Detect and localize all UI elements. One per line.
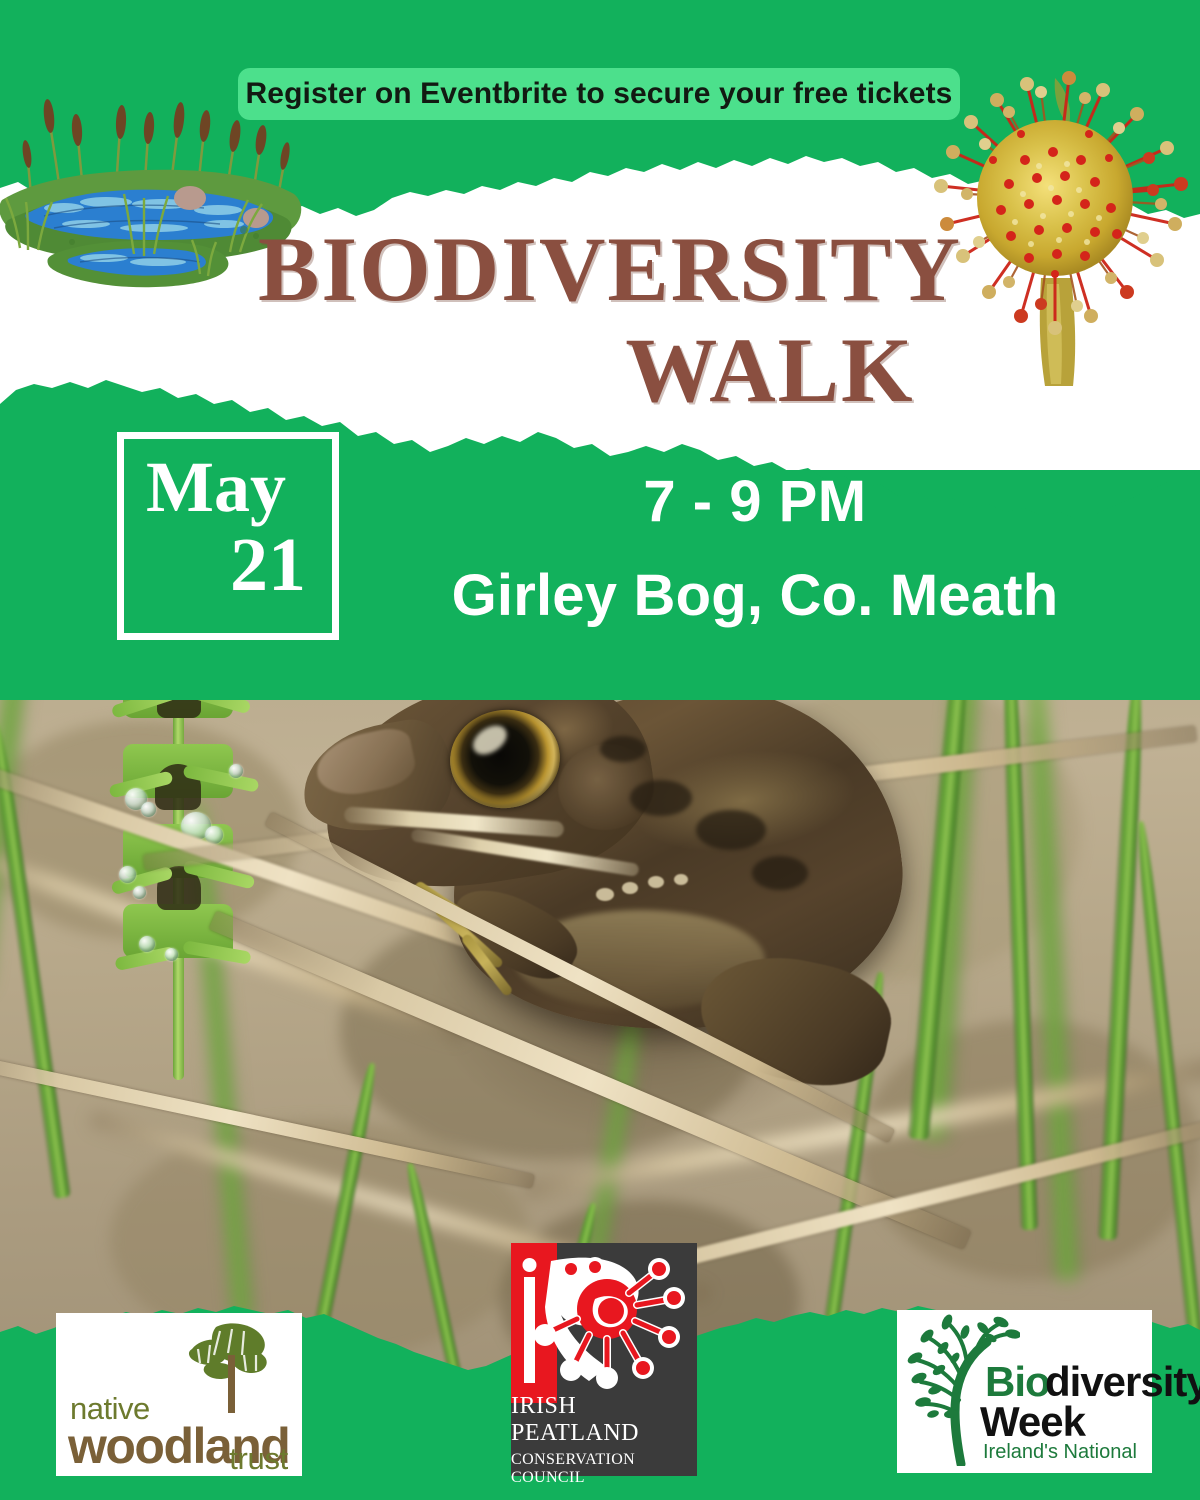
logo-bw-line2: Week xyxy=(980,1398,1085,1446)
logo-ipcc-line1: IRISH PEATLAND xyxy=(511,1393,697,1447)
title-line-2: WALK xyxy=(0,327,1200,414)
logo-biodiversity-week: Bio diversity Week Ireland's National xyxy=(897,1310,1152,1473)
event-location: Girley Bog, Co. Meath xyxy=(390,564,1120,628)
event-poster: Register on Eventbrite to secure your fr… xyxy=(0,0,1200,1500)
event-details: 7 - 9 PM Girley Bog, Co. Meath xyxy=(390,470,1120,628)
logo-nwt-line3: trust xyxy=(229,1441,288,1477)
ipcc-sundew-emblem-icon xyxy=(511,1243,697,1403)
logo-ipcc-line2: CONSERVATION COUNCIL xyxy=(511,1451,697,1487)
date-month: May xyxy=(146,451,286,523)
logo-native-woodland-trust: native woodland trust xyxy=(56,1313,302,1476)
logo-irish-peatland-conservation-council: IRISH PEATLAND CONSERVATION COUNCIL xyxy=(511,1243,697,1476)
event-time: 7 - 9 PM xyxy=(390,470,1120,534)
date-box: May 21 xyxy=(117,432,339,640)
logo-bw-line3: Ireland's National xyxy=(983,1441,1137,1464)
title-line-1: BIODIVERSITY xyxy=(0,226,1200,313)
eventbrite-banner[interactable]: Register on Eventbrite to secure your fr… xyxy=(238,68,960,120)
eventbrite-banner-text: Register on Eventbrite to secure your fr… xyxy=(246,77,953,111)
tree-icon xyxy=(176,1321,286,1413)
common-frog xyxy=(300,660,920,1220)
date-day: 21 xyxy=(230,527,306,603)
ipcc-caption: IRISH PEATLAND CONSERVATION COUNCIL xyxy=(511,1403,697,1476)
poster-title: BIODIVERSITY WALK xyxy=(0,226,1200,415)
